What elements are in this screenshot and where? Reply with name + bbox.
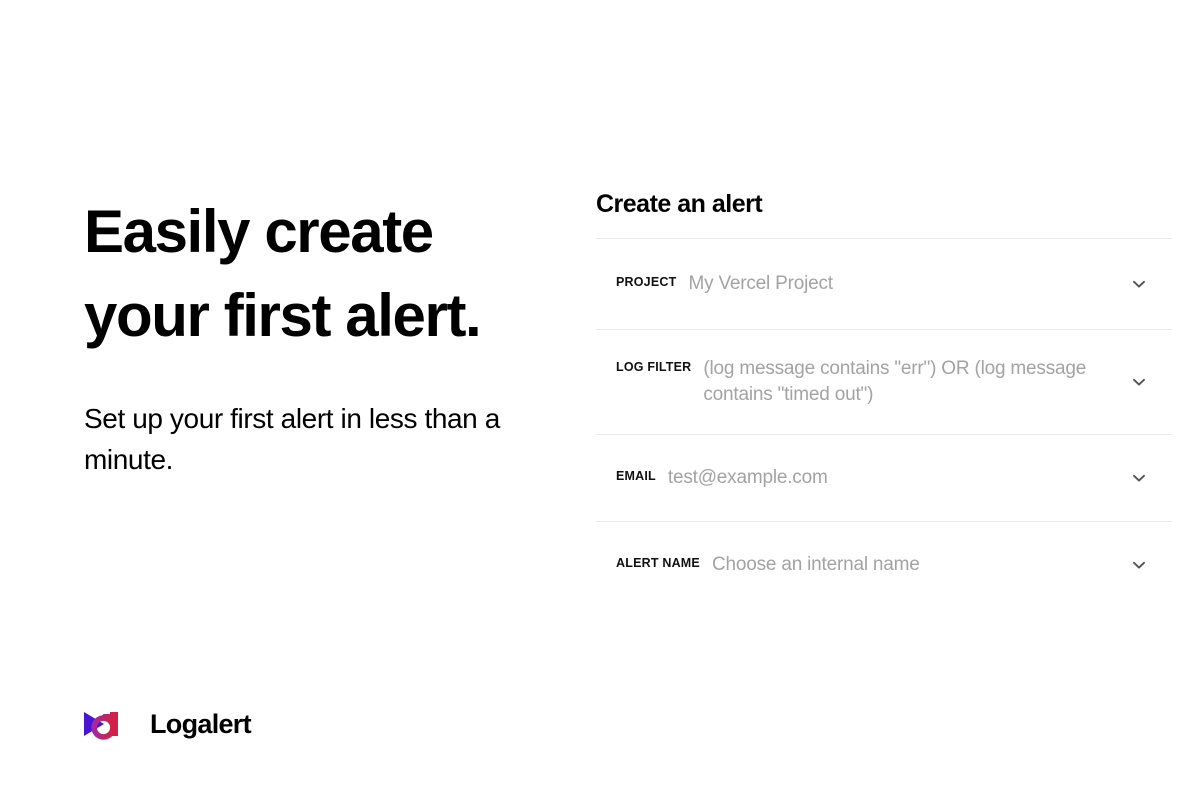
email-label: EMAIL (616, 465, 656, 487)
form-title: Create an alert (596, 188, 1172, 238)
brand-name: Logalert (150, 711, 251, 738)
form-row-log-filter[interactable]: LOG FILTER (log message contains "err") … (596, 330, 1172, 434)
chevron-down-icon[interactable] (1130, 469, 1148, 487)
logalert-play-a-logo-icon (84, 708, 138, 740)
log-filter-value: (log message contains "err") OR (log mes… (703, 356, 1128, 408)
hero-subheadline: Set up your first alert in less than a m… (84, 398, 554, 480)
page-root: Easily create your first alert. Set up y… (0, 0, 1200, 800)
log-filter-label: LOG FILTER (616, 356, 691, 378)
brand-logo: Logalert (84, 708, 251, 740)
alert-name-label: ALERT NAME (616, 552, 700, 574)
project-value: My Vercel Project (688, 271, 1128, 297)
page-title: Easily create your first alert. (84, 190, 564, 358)
email-value: test@example.com (668, 465, 1128, 491)
project-label: PROJECT (616, 271, 676, 293)
form-row-alert-name[interactable]: ALERT NAME Choose an internal name (596, 522, 1172, 608)
chevron-down-icon[interactable] (1130, 373, 1148, 391)
chevron-down-icon[interactable] (1130, 556, 1148, 574)
form-row-email[interactable]: EMAIL test@example.com (596, 435, 1172, 521)
chevron-down-icon[interactable] (1130, 275, 1148, 293)
create-alert-form: Create an alert PROJECT My Vercel Projec… (596, 188, 1172, 608)
hero-section: Easily create your first alert. Set up y… (84, 190, 564, 358)
alert-name-value: Choose an internal name (712, 552, 1128, 578)
form-row-project[interactable]: PROJECT My Vercel Project (596, 239, 1172, 329)
